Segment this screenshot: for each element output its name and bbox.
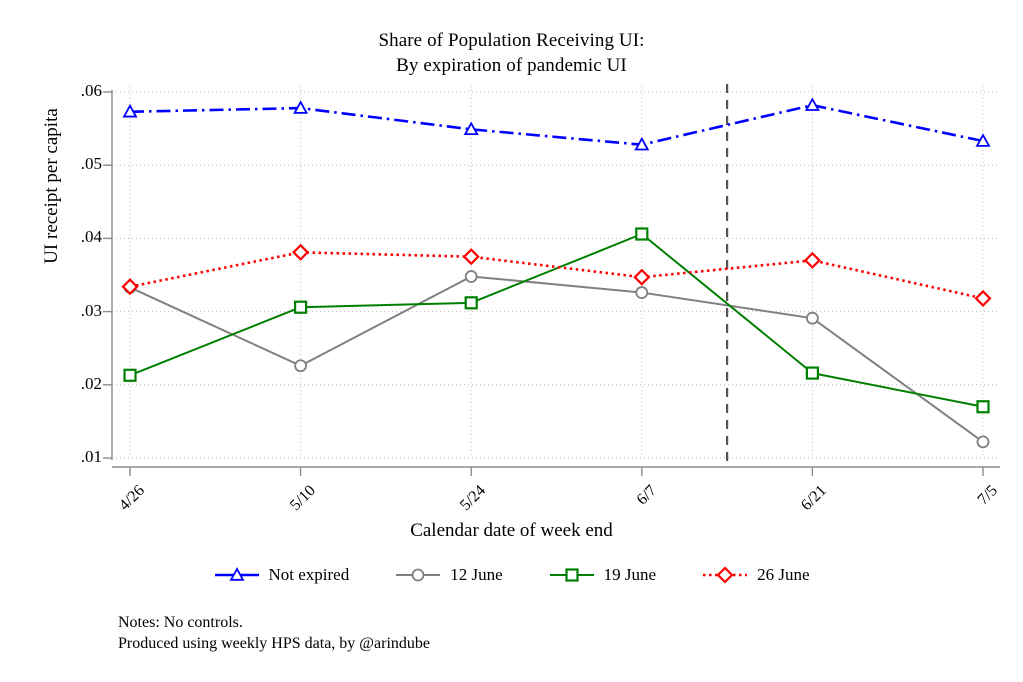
square-marker-icon xyxy=(549,565,595,585)
series-12-june xyxy=(125,271,989,447)
notes-line-1: Notes: No controls. xyxy=(118,612,430,633)
series-26-june xyxy=(123,245,990,305)
legend-label: 19 June xyxy=(604,565,656,585)
diamond-marker-icon xyxy=(702,565,748,585)
series-not-expired xyxy=(124,99,989,149)
notes-line-2: Produced using weekly HPS data, by @arin… xyxy=(118,633,430,654)
legend-item-19-june[interactable]: 19 June xyxy=(549,565,656,585)
chart-figure: Share of Population Receiving UI: By exp… xyxy=(0,0,1023,682)
chart-notes: Notes: No controls. Produced using weekl… xyxy=(118,612,430,655)
legend-item-not-expired[interactable]: Not expired xyxy=(214,565,350,585)
x-axis-label: Calendar date of week end xyxy=(0,520,1023,542)
triangle-marker-icon xyxy=(214,565,260,585)
legend-label: Not expired xyxy=(269,565,350,585)
legend-item-12-june[interactable]: 12 June xyxy=(395,565,502,585)
legend-label: 26 June xyxy=(757,565,809,585)
circle-marker-icon xyxy=(395,565,441,585)
chart-legend: Not expired12 June19 June26 June xyxy=(0,565,1023,585)
legend-item-26-june[interactable]: 26 June xyxy=(702,565,809,585)
legend-label: 12 June xyxy=(450,565,502,585)
